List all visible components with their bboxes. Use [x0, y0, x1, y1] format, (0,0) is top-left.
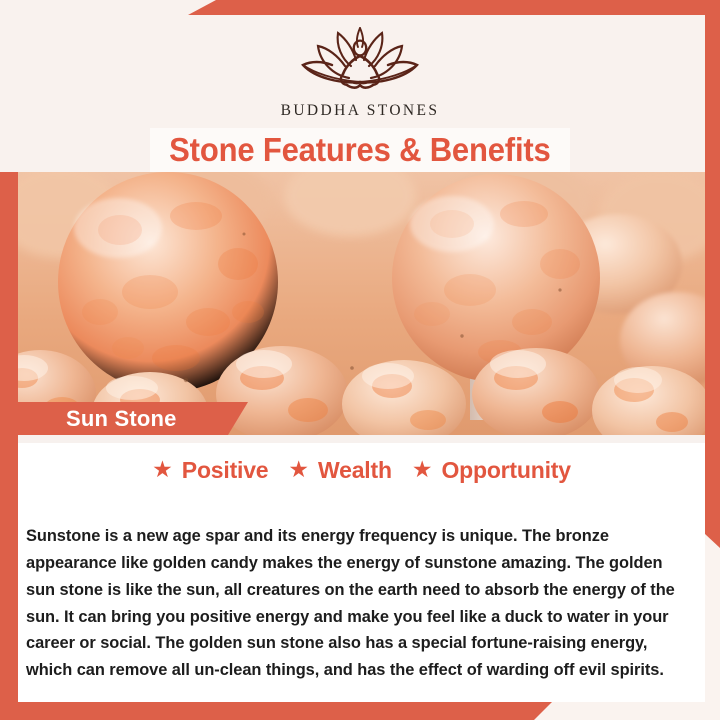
content-card: ★ Positive ★ Wealth ★ Opportunity Sunsto… — [18, 435, 705, 702]
card-top-divider — [18, 435, 705, 443]
description-text: Sunstone is a new age spar and its energ… — [26, 523, 695, 683]
star-icon: ★ — [152, 458, 173, 481]
frame-left-accent — [0, 172, 18, 720]
brand-logo: BUDDHA STONES — [0, 22, 720, 120]
infographic-poster: BUDDHA STONES Stone Features & Benefits — [0, 0, 720, 720]
benefit-item-opportunity: ★ Opportunity — [412, 457, 571, 484]
product-name-ribbon: Sun Stone — [0, 402, 248, 435]
lotus-meditation-icon — [289, 22, 431, 96]
brand-name: BUDDHA STONES — [281, 102, 440, 120]
benefit-label: Opportunity — [441, 457, 570, 484]
product-name: Sun Stone — [66, 406, 177, 432]
frame-right-accent — [705, 0, 720, 548]
page-title: Stone Features & Benefits — [169, 131, 550, 169]
frame-bottom-accent — [0, 702, 552, 720]
page-title-band: Stone Features & Benefits — [150, 128, 570, 172]
benefit-label: Positive — [182, 457, 269, 484]
benefit-label: Wealth — [318, 457, 392, 484]
header: BUDDHA STONES Stone Features & Benefits — [0, 0, 720, 172]
star-icon: ★ — [288, 458, 309, 481]
benefits-row: ★ Positive ★ Wealth ★ Opportunity — [18, 457, 705, 484]
star-icon: ★ — [412, 458, 433, 481]
benefit-item-wealth: ★ Wealth — [288, 457, 391, 484]
product-photo — [0, 172, 705, 435]
frame-top-accent — [188, 0, 720, 15]
benefit-item-positive: ★ Positive — [152, 457, 268, 484]
